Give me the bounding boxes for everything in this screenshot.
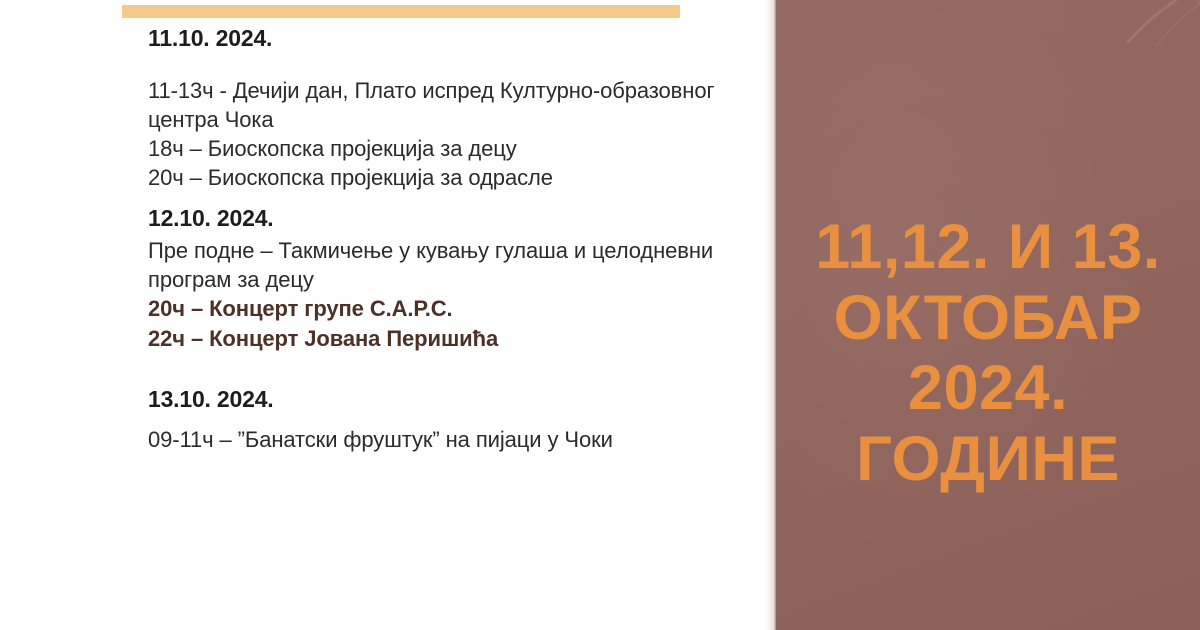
accent-bar [122, 5, 680, 18]
day-heading-2: 12.10. 2024. [148, 206, 768, 230]
headline-panel: 11,12. И 13. ОКТОБАР 2024. ГОДИНЕ [776, 0, 1200, 630]
headline-line-4: ГОДИНЕ [788, 424, 1188, 495]
program-entry-3-1: 09-11ч – ”Банатски фруштук” на пијаци у … [148, 425, 768, 454]
headline-line-2: ОКТОБАР [788, 283, 1188, 354]
day-heading-3: 13.10. 2024. [148, 387, 768, 411]
spacer [148, 50, 768, 76]
program-panel: 11.10. 2024. 11-13ч - Дечији дан, Плато … [0, 0, 776, 630]
corner-streak-icon [1122, 0, 1200, 48]
spacer [148, 411, 768, 425]
panel-divider [765, 0, 776, 630]
poster-canvas: 11.10. 2024. 11-13ч - Дечији дан, Плато … [0, 0, 1200, 630]
program-entry-1-2: 18ч – Биоскопска пројекција за децу [148, 134, 768, 163]
program-entry-2-2: 20ч – Концерт групе С.А.Р.С. [148, 294, 768, 323]
program-entry-2-1: Пре подне – Такмичење у кувању гулаша и … [148, 236, 768, 294]
headline-line-1: 11,12. И 13. [788, 212, 1188, 283]
headline-block: 11,12. И 13. ОКТОБАР 2024. ГОДИНЕ [776, 212, 1200, 494]
program-entry-1-3: 20ч – Биоскопска пројекција за одрасле [148, 163, 768, 192]
program-entry-2-3: 22ч – Концерт Јована Перишића [148, 324, 768, 353]
day-heading-1: 11.10. 2024. [148, 26, 768, 50]
program-entry-1-1: 11-13ч - Дечији дан, Плато испред Култур… [148, 76, 768, 134]
spacer [148, 353, 768, 387]
program-list: 11.10. 2024. 11-13ч - Дечији дан, Плато … [148, 26, 768, 454]
headline-line-3: 2024. [788, 353, 1188, 424]
spacer [148, 192, 768, 206]
